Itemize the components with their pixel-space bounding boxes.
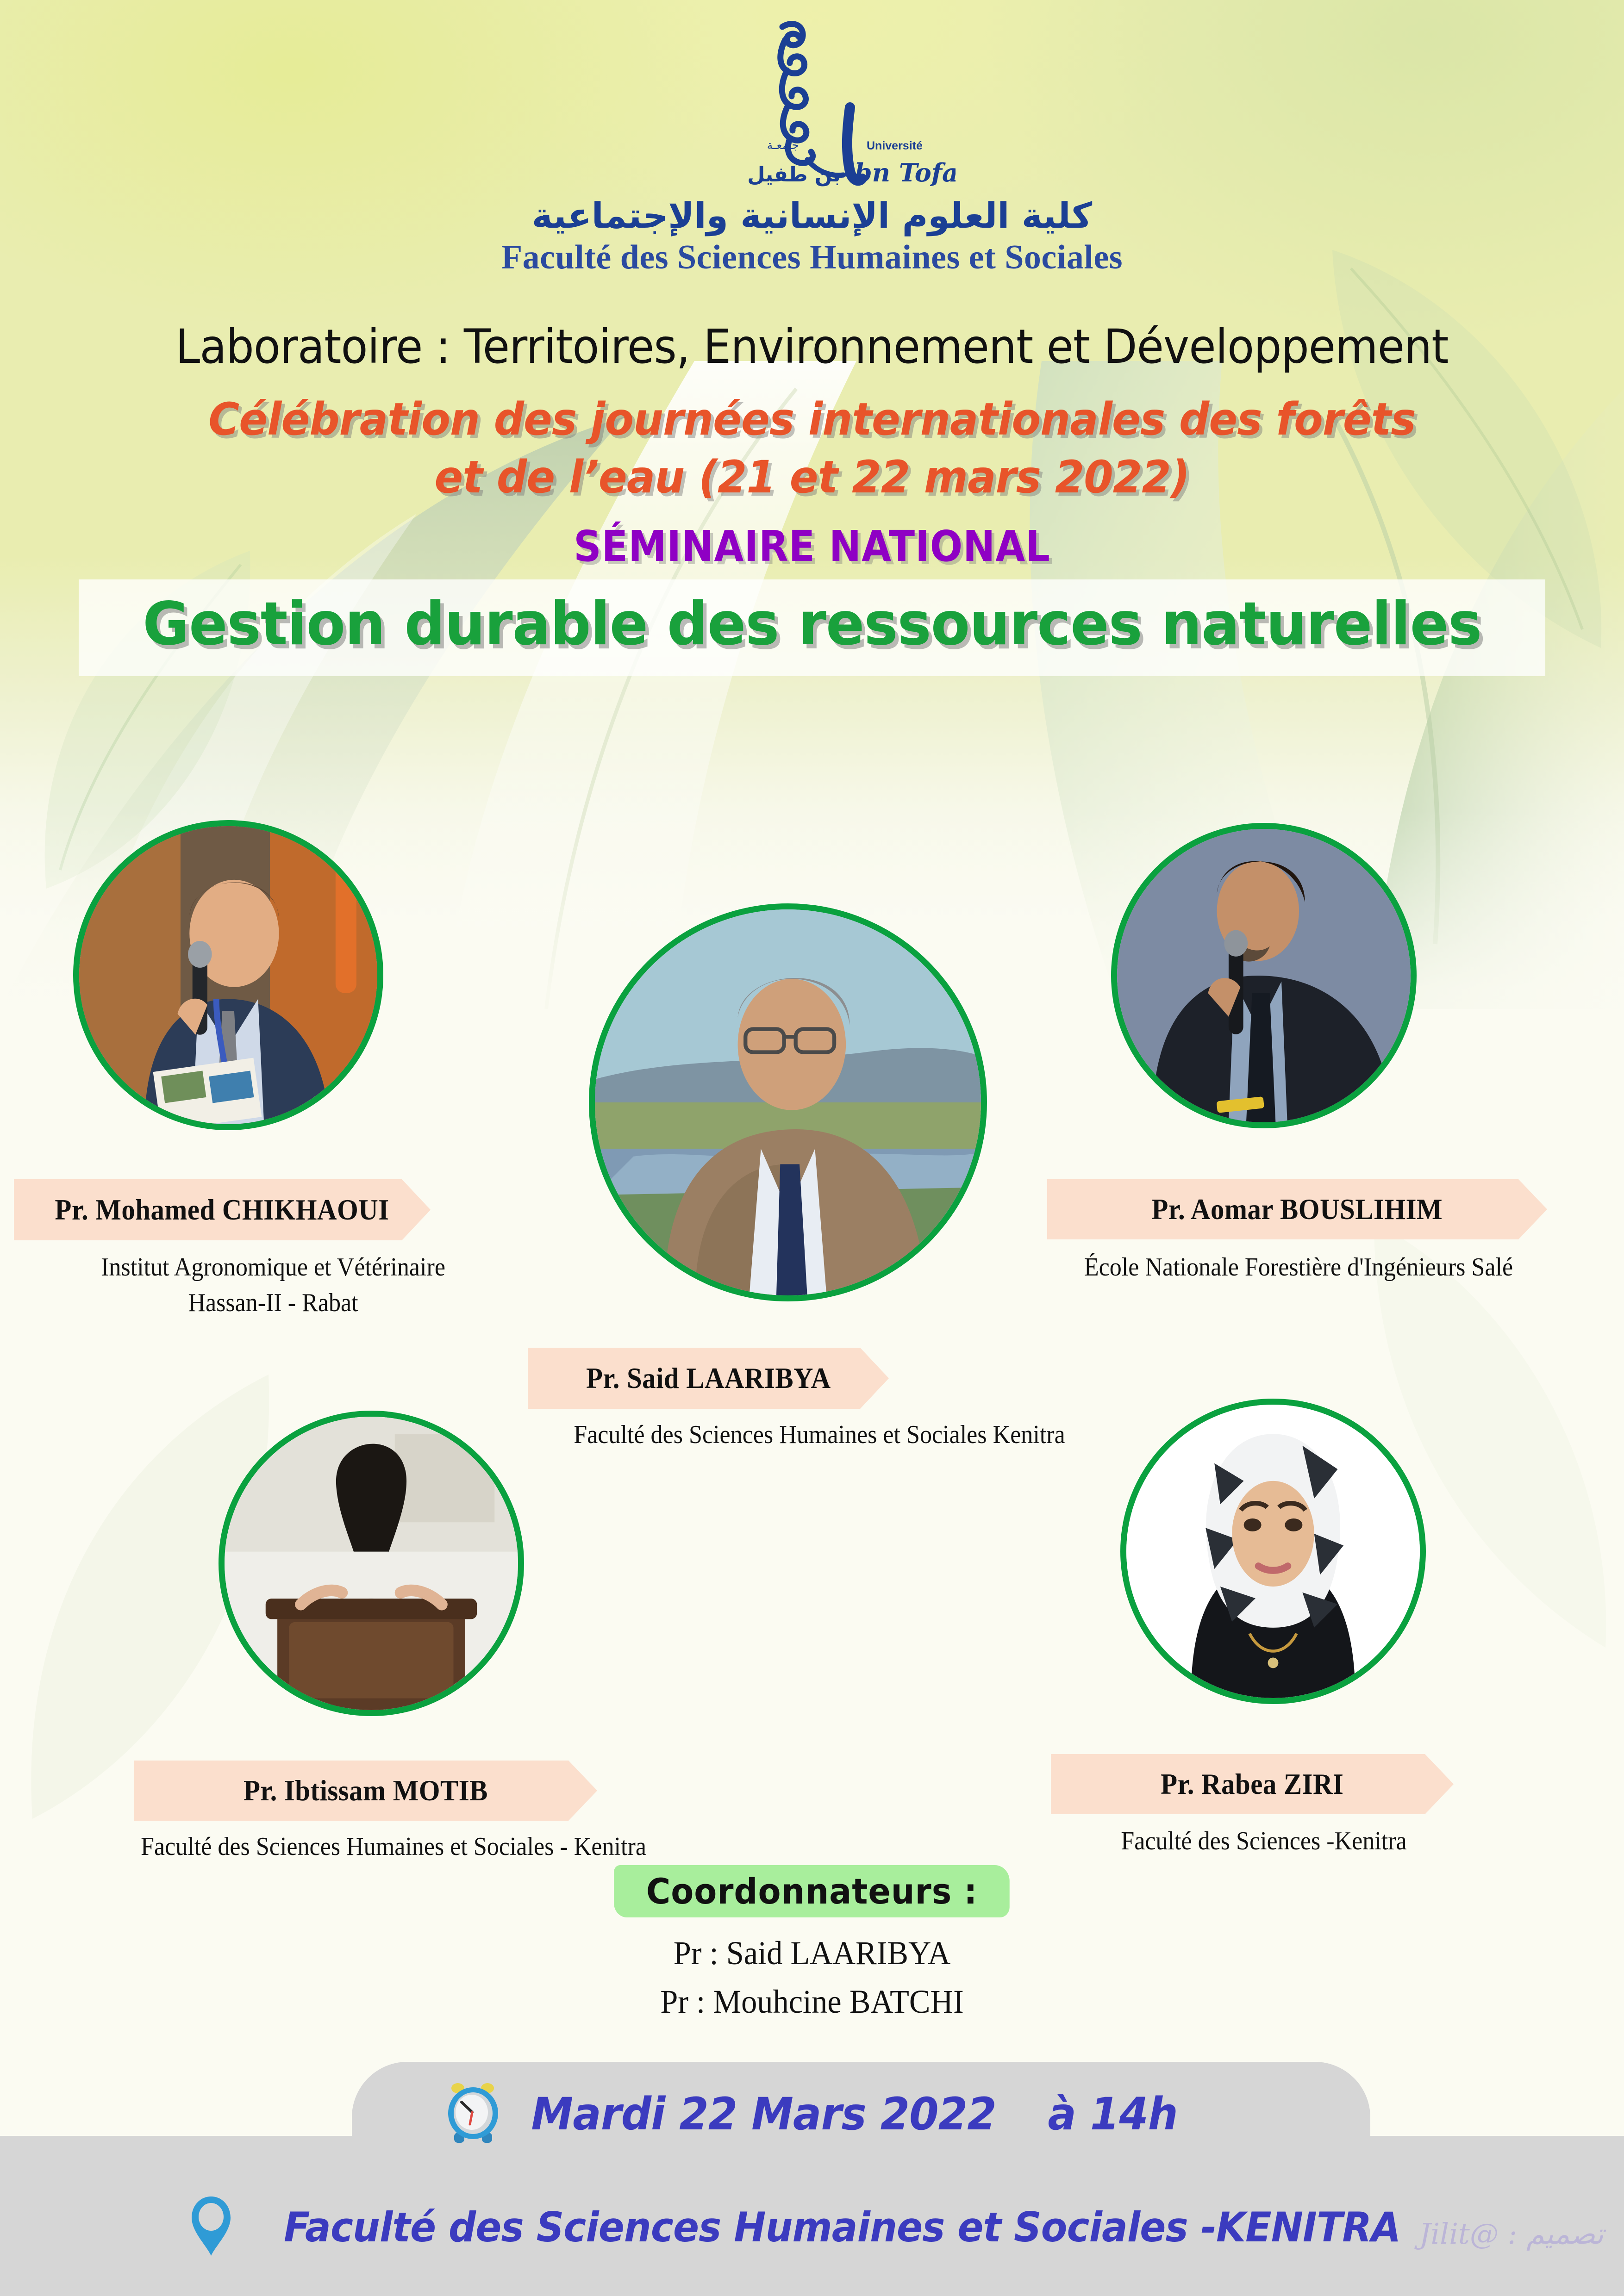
celebration-line-1: Célébration des journées internationales… — [41, 391, 1584, 448]
speaker-photo-chikhaoui-image — [79, 826, 377, 1124]
alarm-clock-icon — [443, 2078, 503, 2150]
speaker-affiliation-motib: Faculté des Sciences Humaines et Sociale… — [28, 1829, 760, 1865]
speaker-affiliation-chikhaoui: Institut Agronomique et Vétérinaire Hass… — [19, 1250, 527, 1321]
speaker-photo-motib — [219, 1411, 524, 1716]
map-pin-icon-svg — [188, 2194, 234, 2259]
speaker-photo-ziri-image — [1126, 1405, 1420, 1698]
speaker-name-laaribya: Pr. Said LAARIBYA — [586, 1361, 831, 1395]
speaker-name-ribbon-bouslihim: Pr. Aomar BOUSLIHIM — [1047, 1179, 1547, 1239]
affiliation-line-1: Faculté des Sciences Humaines et Sociale… — [462, 1417, 1177, 1453]
event-location: Faculté des Sciences Humaines et Sociale… — [284, 2203, 1400, 2251]
poster-canvas: جامعـة Université بن طفيل bn Tofail كلية… — [0, 0, 1624, 2296]
university-logo-svg: جامعـة Université بن طفيل bn Tofail — [668, 19, 956, 199]
coordinator-name-1: Pr : Said LAARIBYA — [41, 1934, 1584, 1972]
university-header: جامعـة Université بن طفيل bn Tofail كلية… — [0, 19, 1624, 277]
speaker-name-bouslihim: Pr. Aomar BOUSLIHIM — [1152, 1192, 1443, 1226]
affiliation-line-1: Institut Agronomique et Vétérinaire — [19, 1250, 527, 1285]
affiliation-line-1: Faculté des Sciences Humaines et Sociale… — [28, 1829, 760, 1865]
speaker-name-ribbon-chikhaoui: Pr. Mohamed CHIKHAOUI — [14, 1179, 431, 1240]
affiliation-line-1: Faculté des Sciences -Kenitra — [1027, 1823, 1501, 1859]
ibn-tofail-university-logo: جامعـة Université بن طفيل bn Tofail — [668, 19, 956, 199]
speaker-name-ribbon-ziri: Pr. Rabea ZIRI — [1051, 1754, 1454, 1814]
celebration-line-2: et de l’eau (21 et 22 mars 2022) — [41, 449, 1584, 506]
svg-text:bn Tofail: bn Tofail — [855, 158, 956, 187]
speaker-name-chikhaoui: Pr. Mohamed CHIKHAOUI — [55, 1193, 389, 1227]
alarm-clock-icon-svg — [443, 2078, 503, 2147]
faculty-name-french: Faculté des Sciences Humaines et Sociale… — [501, 238, 1123, 277]
event-location-row: Faculté des Sciences Humaines et Sociale… — [0, 2194, 1624, 2261]
affiliation-line-1: École Nationale Forestière d'Ingénieurs … — [1008, 1250, 1589, 1285]
title-block: Laboratoire : Territoires, Environnement… — [0, 319, 1624, 659]
speaker-name-ribbon-laaribya: Pr. Said LAARIBYA — [528, 1348, 889, 1409]
speaker-photo-bouslihim — [1111, 823, 1417, 1128]
speaker-name-ziri: Pr. Rabea ZIRI — [1161, 1767, 1343, 1801]
affiliation-line-2: Hassan-II - Rabat — [19, 1285, 527, 1321]
seminar-type-label: SÉMINAIRE NATIONAL — [81, 522, 1543, 571]
speaker-affiliation-laaribya: Faculté des Sciences Humaines et Sociale… — [462, 1417, 1177, 1453]
coordinators-heading: Coordonnateurs : — [614, 1860, 1010, 1924]
laboratory-line: Laboratoire : Territoires, Environnement… — [57, 319, 1567, 374]
coordinators-section: Coordonnateurs : Pr : Said LAARIBYA Pr :… — [0, 1860, 1624, 2021]
main-title-band: Gestion durable des ressources naturelle… — [0, 590, 1624, 659]
speaker-photo-bouslihim-image — [1117, 829, 1411, 1122]
svg-text:جامعـة: جامعـة — [767, 138, 799, 152]
designer-watermark: تصميم : @Jilit — [1419, 2217, 1604, 2251]
speaker-photo-ziri — [1120, 1399, 1426, 1704]
speaker-name-motib: Pr. Ibtissam MOTIB — [244, 1773, 488, 1808]
speaker-name-ribbon-motib: Pr. Ibtissam MOTIB — [134, 1761, 597, 1821]
speaker-photo-laaribya — [589, 903, 987, 1301]
svg-text:بن طفيل: بن طفيل — [747, 163, 841, 187]
event-date: Mardi 22 Mars 2022 — [531, 2088, 996, 2140]
coordinator-name-2: Pr : Mouhcine BATCHI — [41, 1983, 1584, 2021]
page-title: Gestion durable des ressources naturelle… — [143, 590, 1481, 659]
event-datetime-row: Mardi 22 Mars 2022 à 14h — [0, 2078, 1624, 2150]
speaker-photo-chikhaoui — [73, 820, 383, 1130]
event-time: à 14h — [1048, 2088, 1177, 2140]
svg-text:Université: Université — [867, 139, 923, 152]
speaker-affiliation-ziri: Faculté des Sciences -Kenitra — [1027, 1823, 1501, 1859]
faculty-name-arabic: كلية العلوم الإنسانية والإجتماعية — [532, 196, 1092, 235]
speaker-photo-motib-image — [225, 1417, 518, 1710]
map-pin-icon — [188, 2194, 234, 2261]
speaker-affiliation-bouslihim: École Nationale Forestière d'Ingénieurs … — [1008, 1250, 1589, 1285]
speaker-photo-laaribya-image — [595, 909, 981, 1295]
